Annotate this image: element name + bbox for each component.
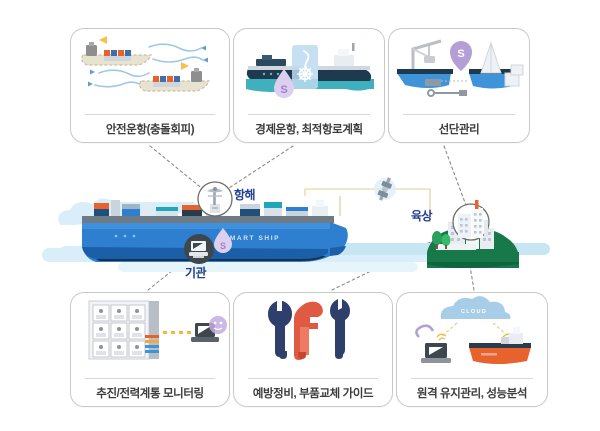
cloud-ship-laptop-icon: CLOUD — [397, 293, 549, 369]
card-caption-maintenance-guide: 예방정비, 부품교체 가이드 — [238, 385, 388, 401]
card-divider — [403, 114, 515, 115]
card-divider — [85, 378, 215, 379]
smart-ship-diagram: SMART SHIP S — [0, 0, 600, 431]
switchboard-cabinet — [89, 301, 159, 359]
card-remote-analysis[interactable]: CLOUD — [396, 292, 548, 407]
card-economic-route[interactable]: S 경제운항, 최적항로계획 — [233, 28, 385, 143]
hub-engine[interactable] — [184, 234, 214, 264]
switchboard-monitor-icon — [71, 293, 231, 369]
fleet-ship-left — [397, 69, 453, 88]
cloud-label: CLOUD — [461, 309, 487, 315]
card-caption-remote-analysis: 원격 유지관리, 성능분석 — [401, 385, 543, 401]
fuel-analysis-panel — [292, 45, 318, 89]
laptop-icon — [416, 326, 451, 363]
hub-label-shore: 육상 — [411, 207, 432, 224]
ship-a — [82, 36, 151, 65]
cloud-icon: CLOUD — [441, 296, 511, 319]
card-safe-navigation[interactable]: 안전운항(충돌회피) — [70, 28, 230, 143]
wrench-link-icon — [428, 90, 467, 96]
card-fleet-management[interactable]: S 선단관리 — [388, 28, 530, 143]
crane-fleet-icon: S — [389, 29, 531, 105]
engine-monitor-icon — [189, 241, 208, 258]
card-power-monitoring[interactable]: 추진/전력계통 모니터링 — [70, 292, 230, 407]
wifi-icon-left — [437, 334, 446, 340]
cargo-boxes — [505, 65, 523, 86]
pipe-wrench-icon — [294, 302, 323, 360]
wrenches-icon — [234, 293, 394, 369]
svg-text:S: S — [280, 84, 287, 96]
card-caption-economic-route: 경제운항, 최적항로계획 — [238, 121, 380, 137]
svg-text:S: S — [220, 241, 226, 251]
open-wrench-icon — [268, 301, 292, 359]
hub-navigation[interactable] — [198, 182, 232, 216]
svg-text:S: S — [457, 48, 464, 60]
ship-brand-text: SMART SHIP — [224, 235, 280, 242]
hub-label-engine: 기관 — [185, 264, 206, 281]
card-caption-power-monitoring: 추진/전력계통 모니터링 — [75, 385, 225, 401]
ship-fuel-route-icon: S — [234, 29, 386, 105]
card-divider — [248, 378, 378, 379]
monitor-terminal-icon — [191, 316, 227, 342]
two-ships-collision-avoidance-icon — [71, 29, 231, 105]
analysis-ship-icon — [469, 327, 531, 364]
adjustable-wrench-icon — [330, 299, 350, 359]
ship-b — [140, 62, 209, 91]
card-divider — [85, 114, 215, 115]
signal-dots — [163, 331, 191, 334]
card-maintenance-guide[interactable]: 예방정비, 부품교체 가이드 — [233, 292, 393, 407]
card-divider — [248, 114, 370, 115]
fleet-pin-icon: S — [450, 41, 472, 71]
card-divider — [411, 378, 533, 379]
card-caption-fleet-management: 선단관리 — [393, 121, 525, 137]
hub-label-navigation: 항해 — [234, 186, 255, 203]
card-caption-safe-navigation: 안전운항(충돌회피) — [75, 121, 225, 137]
hub-shore[interactable] — [453, 200, 489, 240]
ship-right — [318, 43, 371, 81]
